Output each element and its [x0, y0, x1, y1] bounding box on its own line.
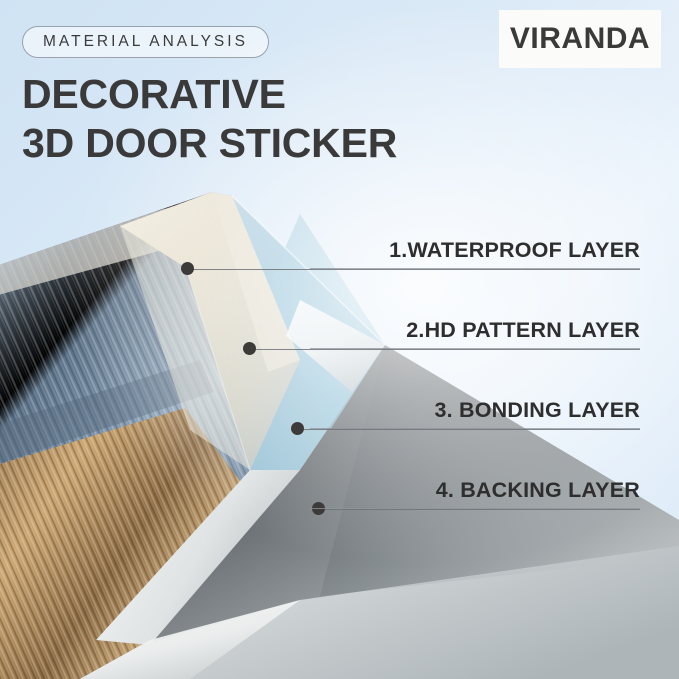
- layer-label-1: 1.WATERPROOF LAYER: [310, 238, 640, 268]
- leader-line-4: [324, 509, 640, 510]
- layer-rule-4: [310, 508, 640, 509]
- layer-rule-3: [310, 428, 640, 429]
- dot-marker-icon-3: [291, 422, 304, 435]
- layer-label-2: 2.HD PATTERN LAYER: [310, 318, 640, 348]
- leader-line-1: [193, 269, 640, 270]
- dot-marker-icon-1: [181, 262, 194, 275]
- layer-callout-waterproof: 1.WATERPROOF LAYER: [310, 238, 640, 269]
- layer-callouts: 1.WATERPROOF LAYER 2.HD PATTERN LAYER 3.…: [0, 0, 679, 679]
- layer-callout-backing: 4. BACKING LAYER: [310, 478, 640, 509]
- layer-label-3: 3. BONDING LAYER: [310, 398, 640, 428]
- leader-line-2: [255, 349, 640, 350]
- layer-callout-hd-pattern: 2.HD PATTERN LAYER: [310, 318, 640, 349]
- layer-callout-bonding: 3. BONDING LAYER: [310, 398, 640, 429]
- product-infographic: MATERIAL ANALYSIS VIRANDA DECORATIVE 3D …: [0, 0, 679, 679]
- dot-marker-icon-2: [243, 342, 256, 355]
- layer-label-4: 4. BACKING LAYER: [310, 478, 640, 508]
- leader-line-3: [303, 429, 640, 430]
- layer-rule-1: [310, 268, 640, 269]
- layer-rule-2: [310, 348, 640, 349]
